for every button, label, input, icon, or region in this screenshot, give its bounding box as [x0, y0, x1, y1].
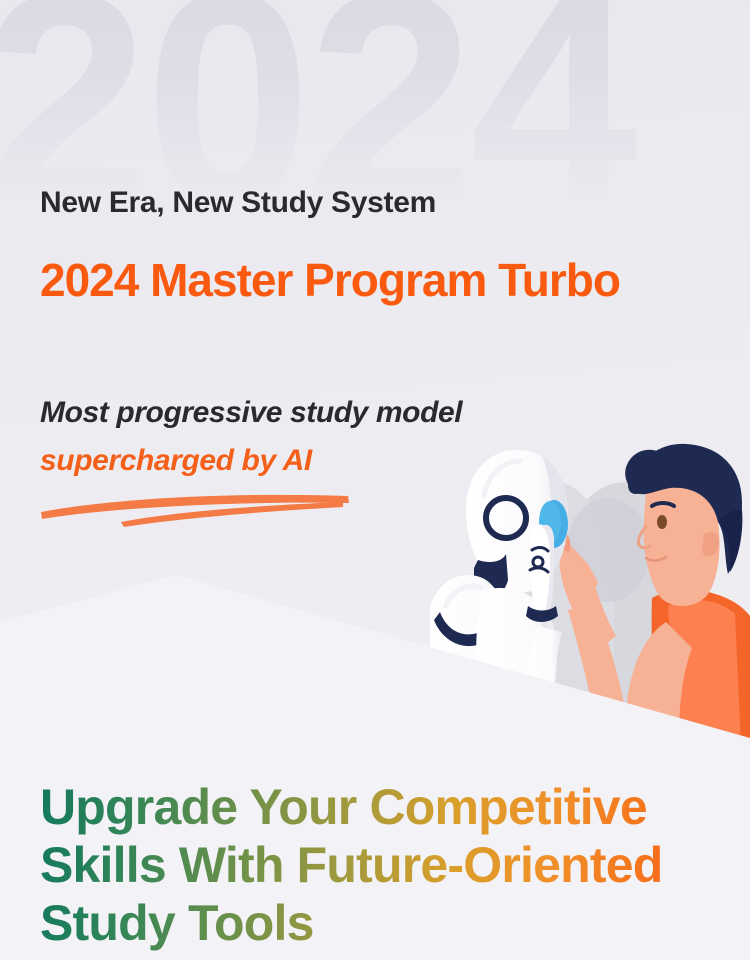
eyebrow-text: New Era, New Study System: [40, 186, 436, 220]
subtitle-line-two-highlight: supercharged by AI: [40, 444, 312, 478]
bottom-heading: Upgrade Your Competitive Skills With Fut…: [40, 778, 720, 952]
subtitle-line-one: Most progressive study model: [40, 396, 462, 430]
page-title: 2024 Master Program Turbo: [40, 253, 620, 307]
poster-canvas: 2024 New Era, New Study System 2024 Mast…: [0, 0, 750, 960]
